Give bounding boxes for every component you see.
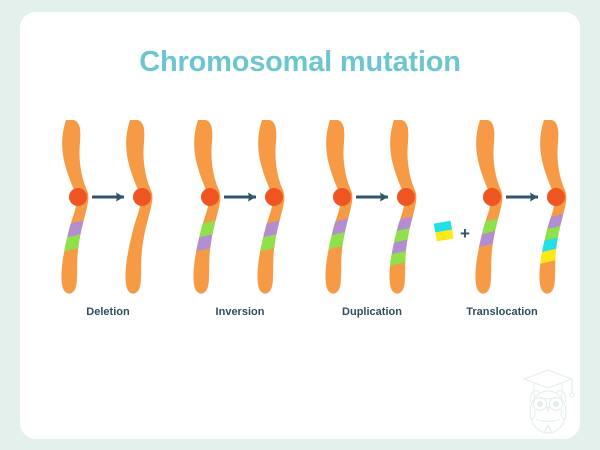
right-arrow-icon <box>92 193 124 202</box>
panel-translocation: + <box>432 118 572 333</box>
deletion-illustration <box>38 118 178 303</box>
panel-label-inversion: Inversion <box>170 306 310 318</box>
panel-label-translocation: Translocation <box>432 306 572 318</box>
band-group <box>526 209 582 266</box>
plus-sign: + <box>460 224 470 243</box>
chromosome-before <box>47 120 108 294</box>
centromere <box>201 188 219 206</box>
panel-label-duplication: Duplication <box>302 306 442 318</box>
centromere <box>69 188 87 206</box>
right-arrow-icon <box>224 193 256 202</box>
centromere <box>483 188 501 206</box>
chromosome-before <box>461 120 522 294</box>
chromosome-after <box>376 120 437 294</box>
page-title: Chromosomal mutation <box>0 46 600 79</box>
band-group <box>376 211 437 268</box>
diagram-canvas: Chromosomal mutation <box>0 0 600 450</box>
centromere <box>547 188 565 206</box>
graduation-cap-icon <box>524 370 572 388</box>
centromere <box>397 188 415 206</box>
centromere <box>133 188 151 206</box>
chromosome-after <box>526 120 582 294</box>
panel-duplication: Duplication <box>302 118 442 333</box>
panel-inversion: Inversion <box>170 118 310 333</box>
centromere <box>333 188 351 206</box>
panel-deletion: Deletion <box>38 118 178 333</box>
right-arrow-icon <box>356 193 388 202</box>
right-arrow-icon <box>506 193 538 202</box>
panel-label-deletion: Deletion <box>38 306 178 318</box>
owl-graduate-logo <box>514 362 582 436</box>
inversion-illustration <box>170 118 310 303</box>
duplication-illustration <box>302 118 442 303</box>
chromosome-after <box>125 120 152 294</box>
chromosome-before <box>311 120 372 294</box>
chromosome-fragment <box>434 221 454 242</box>
chromosome-before <box>179 120 240 294</box>
translocation-illustration: + <box>432 118 582 303</box>
centromere <box>265 188 283 206</box>
chromosome-after <box>243 120 304 294</box>
